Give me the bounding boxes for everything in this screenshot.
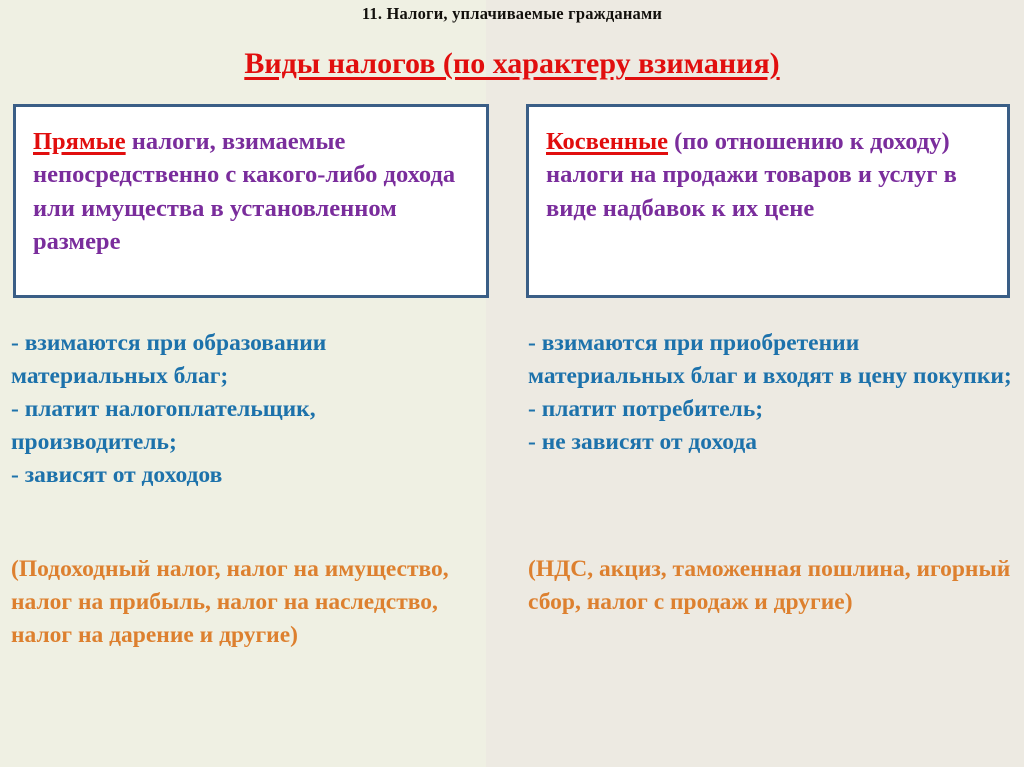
- slide-canvas: 11. Налоги, уплачиваемые гражданами Виды…: [0, 0, 1024, 767]
- definition-text-indirect: Косвенные (по отношению к доходу) налоги…: [529, 107, 1007, 225]
- examples-list-direct-taxes: (Подоходный налог, налог на имущество, н…: [11, 553, 479, 652]
- definition-keyword-direct: Прямые: [33, 128, 126, 155]
- features-list-indirect-taxes: - взимаются при приобретении материальны…: [528, 327, 1014, 459]
- examples-list-indirect-taxes: (НДС, акциз, таможенная пошлина, игорный…: [528, 553, 1014, 619]
- page-title-text: Виды налогов (по характеру взимания): [244, 47, 779, 80]
- definition-box-indirect-taxes: Косвенные (по отношению к доходу) налоги…: [526, 104, 1010, 298]
- definition-box-direct-taxes: Прямые налоги, взимаемые непосредственно…: [13, 104, 489, 298]
- slide-header: 11. Налоги, уплачиваемые гражданами: [0, 4, 1024, 24]
- definition-keyword-indirect: Косвенные: [546, 128, 668, 155]
- features-list-direct-taxes: - взимаются при образовании материальных…: [11, 327, 481, 492]
- page-title: Виды налогов (по характеру взимания): [0, 47, 1024, 81]
- definition-text-direct: Прямые налоги, взимаемые непосредственно…: [16, 107, 486, 258]
